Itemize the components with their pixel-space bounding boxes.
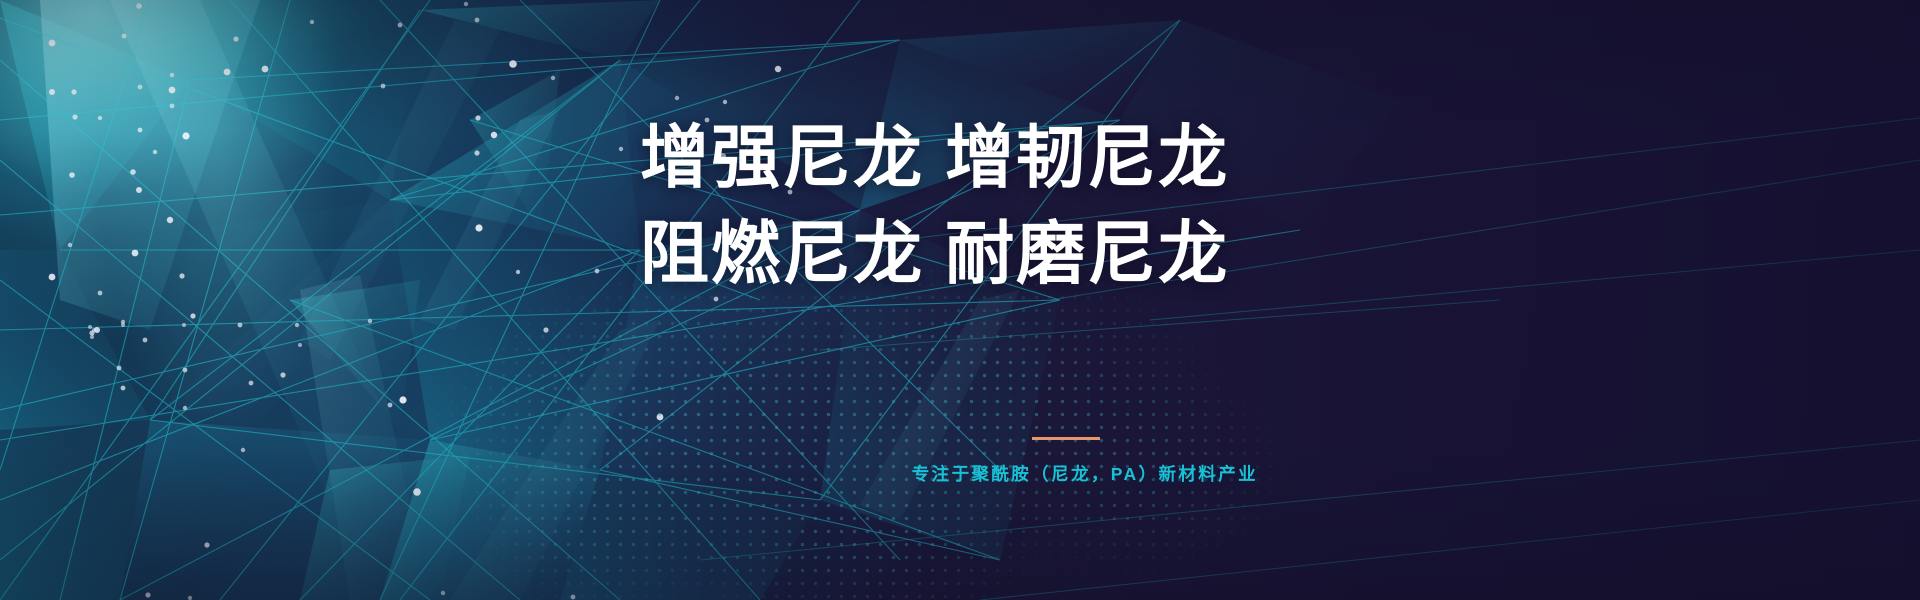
headline-line-1: 增强尼龙 增韧尼龙 — [640, 110, 1220, 206]
orange-rule-bar — [1032, 437, 1100, 440]
hero-banner: 增强尼龙 增韧尼龙 阻燃尼龙 耐磨尼龙 专注于聚酰胺（尼龙，PA）新材料产业 — [0, 0, 1920, 600]
headline-block: 增强尼龙 增韧尼龙 阻燃尼龙 耐磨尼龙 — [640, 110, 1220, 302]
orange-rule — [1032, 437, 1100, 440]
banner-subtitle: 专注于聚酰胺（尼龙，PA）新材料产业 — [838, 461, 1258, 486]
headline-line-2: 阻燃尼龙 耐磨尼龙 — [640, 206, 1220, 302]
